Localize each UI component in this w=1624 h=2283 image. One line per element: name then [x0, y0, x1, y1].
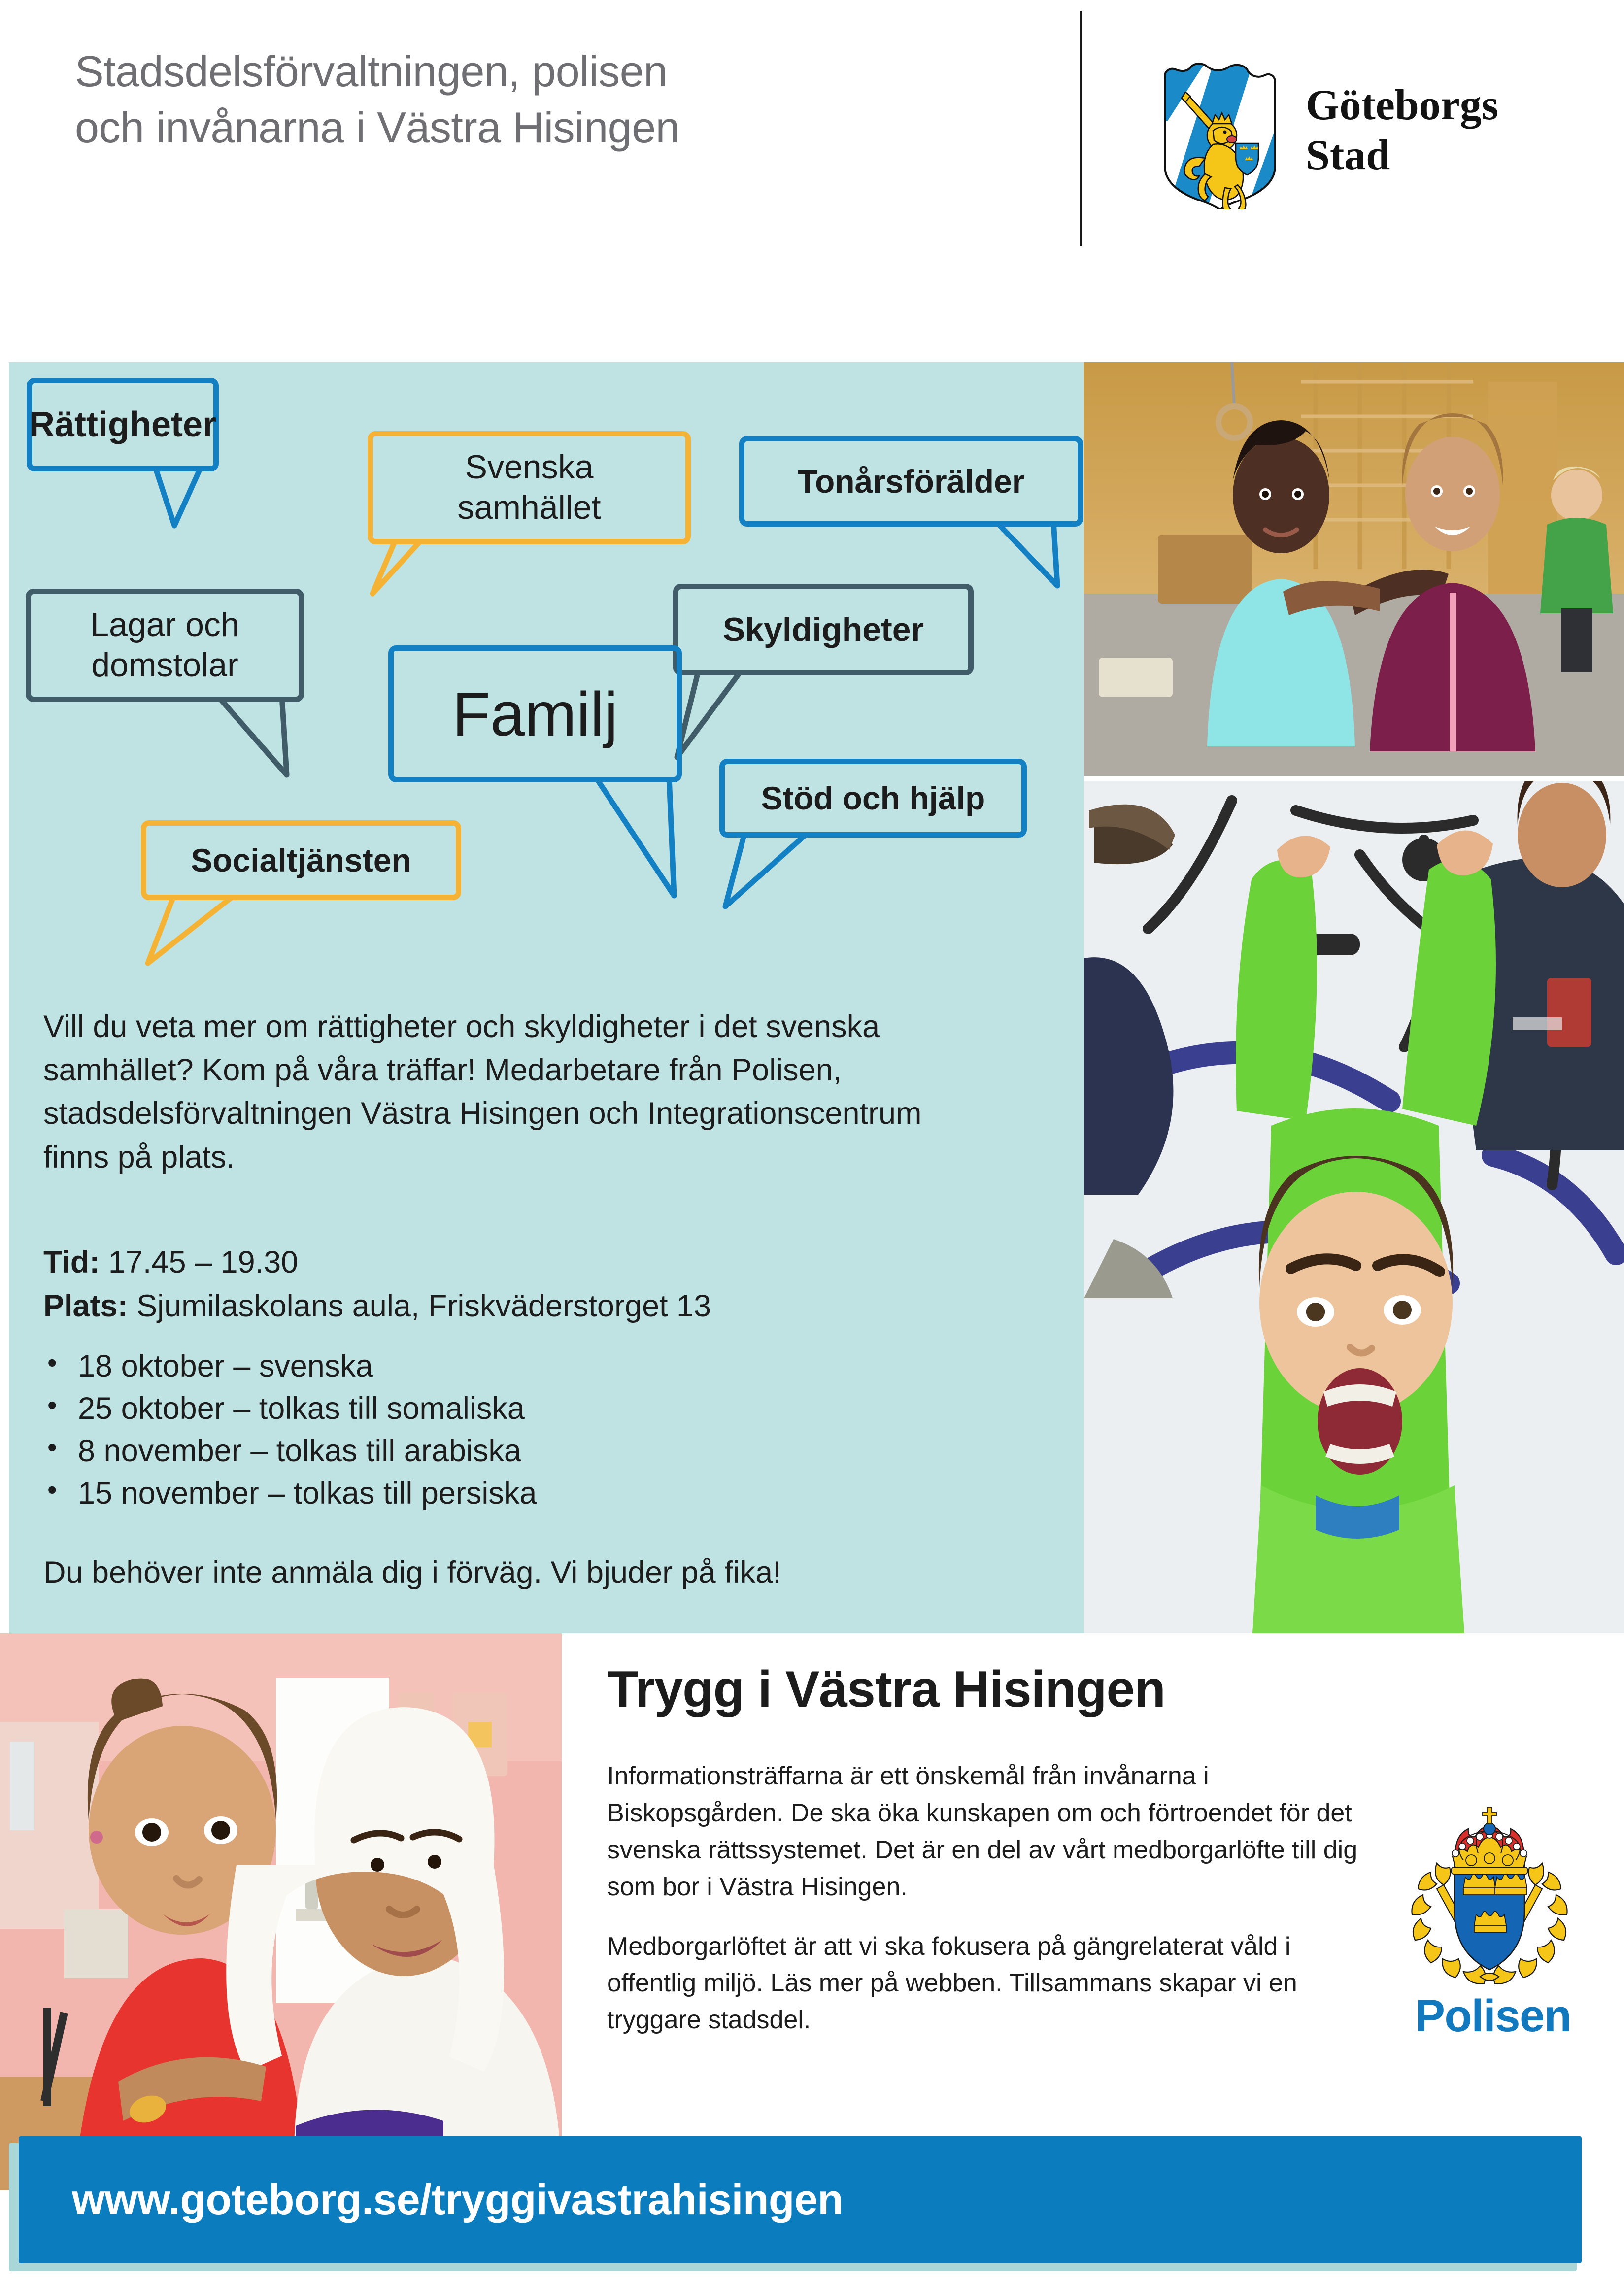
website-url[interactable]: www.goteborg.se/tryggivastrahisingen: [72, 2136, 843, 2263]
place-value: Sjumilaskolans aula, Friskväderstorget 1…: [136, 1289, 711, 1323]
time-row: Tid: 17.45 – 19.30: [43, 1241, 994, 1284]
bubble-box: Socialtjänsten: [141, 820, 461, 900]
photo-boy-climbing-frame: [1084, 781, 1624, 1633]
time-value: 17.45 – 19.30: [108, 1245, 298, 1279]
photo-woman-holding-toddler: [0, 1633, 562, 2190]
bubble-svenska-samhallet: Svenska samhället: [368, 431, 691, 544]
bottom-body: Informationsträffarna är ett önskemål fr…: [607, 1758, 1386, 2039]
bubble-box: Lagar och domstolar: [26, 589, 304, 702]
bubble-familj: Familj: [388, 645, 682, 782]
date-list: 18 oktober – svenska 25 oktober – tolkas…: [43, 1351, 994, 1520]
photo-two-girls-gymnasium: [1084, 362, 1624, 776]
time-label: Tid:: [43, 1245, 100, 1279]
logo-line-2: Stad: [1306, 131, 1591, 181]
bubble-label: Svenska samhället: [457, 447, 601, 528]
goteborgs-stad-shield-icon: [1158, 62, 1281, 209]
bubble-box: Rättigheter: [27, 378, 219, 471]
swedish-police-emblem-icon: [1408, 1798, 1571, 1990]
goteborgs-stad-logo: Göteborgs Stad: [1158, 62, 1601, 219]
bubble-tonarsforalder: Tonårsförälder: [739, 436, 1083, 527]
footer-bar: www.goteborg.se/tryggivastrahisingen: [19, 2136, 1582, 2263]
bubble-box: Svenska samhället: [368, 431, 691, 544]
bubble-label: Skyldigheter: [723, 610, 924, 649]
closing-note: Du behöver inte anmäla dig i förväg. Vi …: [43, 1551, 994, 1594]
time-and-place: Tid: 17.45 – 19.30 Plats: Sjumilaskolans…: [43, 1241, 994, 1329]
goteborgs-stad-wordmark: Göteborgs Stad: [1306, 80, 1591, 181]
bubble-box: Familj: [388, 645, 682, 782]
bottom-paragraph-2: Medborgarlöftet är att vi ska fokusera p…: [607, 1928, 1386, 2039]
intro-paragraph: Vill du veta mer om rättigheter och skyl…: [43, 1005, 994, 1179]
bubble-skyldigheter: Skyldigheter: [673, 584, 974, 675]
bubble-label: Tonårsförälder: [798, 463, 1025, 500]
list-item: 8 november – tolkas till arabiska: [43, 1436, 994, 1467]
bubble-rattigheter: Rättigheter: [27, 378, 219, 471]
header-divider: [1080, 11, 1082, 246]
bubble-socialtjansten: Socialtjänsten: [141, 820, 461, 900]
polisen-wordmark: Polisen: [1394, 1990, 1591, 2042]
bubble-box: Stöd och hjälp: [719, 759, 1027, 838]
place-label: Plats:: [43, 1289, 128, 1323]
list-item: 18 oktober – svenska: [43, 1351, 994, 1382]
polisen-logo: Polisen: [1394, 1798, 1591, 2054]
bottom-paragraph-1: Informationsträffarna är ett önskemål fr…: [607, 1758, 1386, 1906]
bubble-label: Rättigheter: [29, 404, 216, 445]
list-item: 25 oktober – tolkas till somaliska: [43, 1393, 994, 1424]
list-item: 15 november – tolkas till persiska: [43, 1478, 994, 1509]
bubble-label: Lagar och domstolar: [90, 605, 239, 685]
bubble-label: Stöd och hjälp: [761, 779, 985, 817]
bubble-label: Socialtjänsten: [191, 841, 411, 879]
bubble-box: Skyldigheter: [673, 584, 974, 675]
bubble-lagar-och-domstolar: Lagar och domstolar: [26, 589, 304, 702]
place-row: Plats: Sjumilaskolans aula, Friskväderst…: [43, 1284, 994, 1328]
page-title: Stadsdelsförvaltningen, polisen och invå…: [75, 43, 1036, 156]
bubble-box: Tonårsförälder: [739, 436, 1083, 527]
logo-line-1: Göteborgs: [1306, 80, 1591, 131]
bubble-stod-och-hjalp: Stöd och hjälp: [719, 759, 1027, 838]
bubble-label: Familj: [452, 678, 618, 750]
bottom-heading: Trygg i Västra Hisingen: [607, 1660, 1395, 1719]
poster-header: Stadsdelsförvaltningen, polisen och invå…: [0, 0, 1624, 325]
